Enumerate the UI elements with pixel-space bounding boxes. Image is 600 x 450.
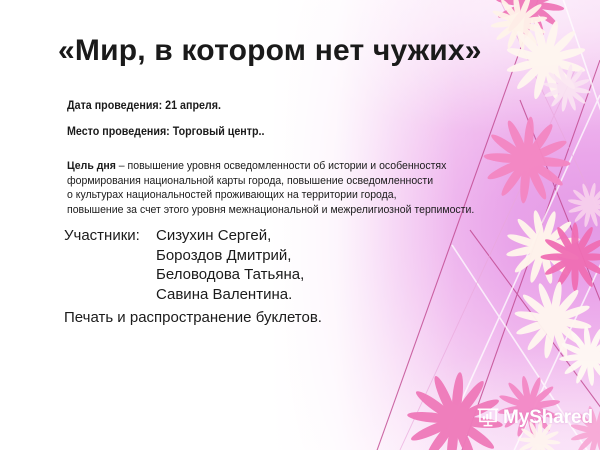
participant-name: Беловодова Татьяна, [156,265,304,285]
participant-name: Сизухин Сергей, [156,226,304,246]
goal-lead-label: Цель дня [67,160,116,172]
goal-line-4: повышение за счет этого уровня межнацион… [67,203,504,218]
myshared-brand-text: MyShared [503,408,593,427]
participants-row: Беловодова Татьяна, [64,265,304,285]
presentation-chart-icon [477,406,499,428]
event-date-line: Дата проведения: 21 апреля. [67,100,221,112]
presentation-slide: «Мир, в котором нет чужих» Дата проведен… [0,0,600,450]
participants-block: Участники: Сизухин Сергей, Бороздов Дмит… [64,226,304,304]
slide-content: «Мир, в котором нет чужих» Дата проведен… [0,0,600,450]
participants-row: Бороздов Дмитрий, [64,246,304,266]
page-title: «Мир, в котором нет чужих» [58,34,482,68]
participants-row: Участники: Сизухин Сергей, [64,226,304,246]
participants-label-spacer [64,285,156,305]
goal-line-3: о культурах национальностей проживающих … [67,188,504,203]
myshared-watermark[interactable]: MyShared [477,406,593,428]
goal-line-1-rest: – повышение уровня осведомленности об ис… [116,160,446,172]
participants-row: Савина Валентина. [64,285,304,305]
event-place-line: Место проведения: Торговый центр.. [67,126,264,138]
closing-line: Печать и распространение буклетов. [64,309,322,326]
participants-label: Участники: [64,226,156,246]
participant-name: Савина Валентина. [156,285,304,305]
participant-name: Бороздов Дмитрий, [156,246,304,266]
participants-label-spacer [64,246,156,266]
goal-paragraph: Цель дня – повышение уровня осведомленно… [67,159,504,217]
goal-line-1: Цель дня – повышение уровня осведомленно… [67,159,504,174]
goal-line-2: формирования национальной карты города, … [67,174,504,189]
participants-label-spacer [64,265,156,285]
